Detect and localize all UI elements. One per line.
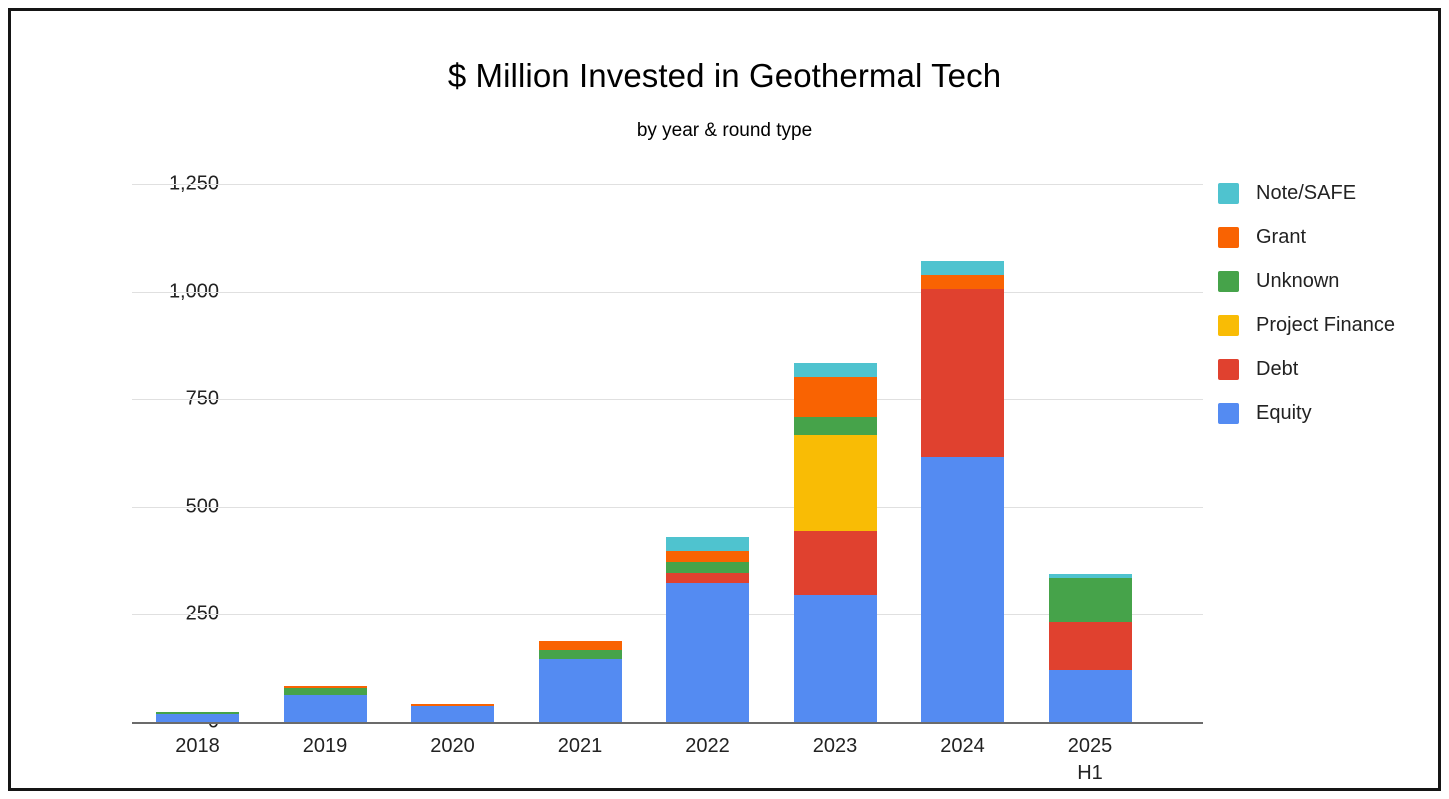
legend-item[interactable]: Debt [1218,347,1443,391]
legend-label: Grant [1256,226,1306,249]
x-axis-tick-label-line1: 2019 [265,733,385,760]
bar-group[interactable] [411,179,494,727]
legend-item[interactable]: Grant [1218,215,1443,259]
bar-group[interactable] [284,179,367,727]
legend-label: Project Finance [1256,314,1395,337]
bar-segment[interactable] [1049,574,1132,578]
bar-segment[interactable] [794,363,877,377]
bar-group[interactable] [156,179,239,727]
legend-label: Equity [1256,402,1312,425]
bar-segment[interactable] [666,573,749,583]
x-axis-tick-label-line1: 2022 [648,733,768,760]
bar-segment[interactable] [794,595,877,722]
chart-legend: Note/SAFEGrantUnknownProject FinanceDebt… [1218,171,1443,435]
bar-segment[interactable] [794,417,877,435]
bar-segment[interactable] [1049,670,1132,722]
bar-segment[interactable] [156,712,239,714]
bar-segment[interactable] [411,706,494,722]
x-axis-tick-label: 2020 [393,733,513,760]
x-axis-tick-label: 2022 [648,733,768,760]
bar-segment[interactable] [666,583,749,722]
screenshot-root: $ Million Invested in Geothermal Tech by… [0,0,1449,799]
bar-segment[interactable] [666,537,749,551]
bar-segment[interactable] [539,659,622,722]
bar-segment[interactable] [156,714,239,722]
x-axis-labels: 20182019202020212022202320242025H1 [132,733,1203,793]
bar-segment[interactable] [921,275,1004,289]
x-axis-tick-label: 2018 [138,733,258,760]
bar-segment[interactable] [284,688,367,695]
bar-group[interactable] [1049,179,1132,727]
x-axis-tick-label-line1: 2018 [138,733,258,760]
bar-group[interactable] [794,179,877,727]
x-axis-tick-label-line1: 2024 [903,733,1023,760]
bar-segment[interactable] [666,551,749,562]
legend-label: Unknown [1256,270,1339,293]
x-axis-tick-label: 2021 [520,733,640,760]
bar-group[interactable] [539,179,622,727]
legend-label: Debt [1256,358,1298,381]
legend-item[interactable]: Note/SAFE [1218,171,1443,215]
bar-segment[interactable] [1049,578,1132,622]
bar-segment[interactable] [411,704,494,706]
legend-swatch-icon [1218,359,1239,380]
bar-segment[interactable] [284,695,367,722]
bar-group[interactable] [921,179,1004,727]
legend-swatch-icon [1218,227,1239,248]
bar-segment[interactable] [794,377,877,417]
chart-subtitle: by year & round type [11,120,1438,142]
x-axis-tick-label-line2: H1 [1030,760,1150,787]
x-axis-tick-label: 2024 [903,733,1023,760]
legend-item[interactable]: Project Finance [1218,303,1443,347]
x-axis-tick-label-line1: 2020 [393,733,513,760]
chart-title: $ Million Invested in Geothermal Tech [11,57,1438,95]
plot-area [132,179,1203,727]
x-axis-tick-label: 2023 [775,733,895,760]
legend-item[interactable]: Unknown [1218,259,1443,303]
bar-segment[interactable] [921,261,1004,275]
bar-segment[interactable] [539,641,622,650]
x-axis-tick-label-line1: 2023 [775,733,895,760]
legend-swatch-icon [1218,183,1239,204]
bar-segment[interactable] [921,457,1004,722]
bar-group[interactable] [666,179,749,727]
legend-swatch-icon [1218,271,1239,292]
chart-frame: $ Million Invested in Geothermal Tech by… [8,8,1441,791]
x-axis-tick-label: 2025H1 [1030,733,1150,787]
bar-series-container [132,184,1203,727]
legend-swatch-icon [1218,403,1239,424]
bar-segment[interactable] [284,686,367,688]
legend-label: Note/SAFE [1256,182,1356,205]
x-axis-tick-label: 2019 [265,733,385,760]
bar-segment[interactable] [921,289,1004,457]
x-axis-tick-label-line1: 2025 [1030,733,1150,760]
bar-segment[interactable] [539,650,622,659]
legend-swatch-icon [1218,315,1239,336]
legend-item[interactable]: Equity [1218,391,1443,435]
bar-segment[interactable] [794,531,877,595]
bar-segment[interactable] [794,435,877,531]
x-axis-tick-label-line1: 2021 [520,733,640,760]
chart-canvas: $ Million Invested in Geothermal Tech by… [11,11,1438,788]
bar-segment[interactable] [1049,622,1132,670]
bar-segment[interactable] [666,562,749,573]
